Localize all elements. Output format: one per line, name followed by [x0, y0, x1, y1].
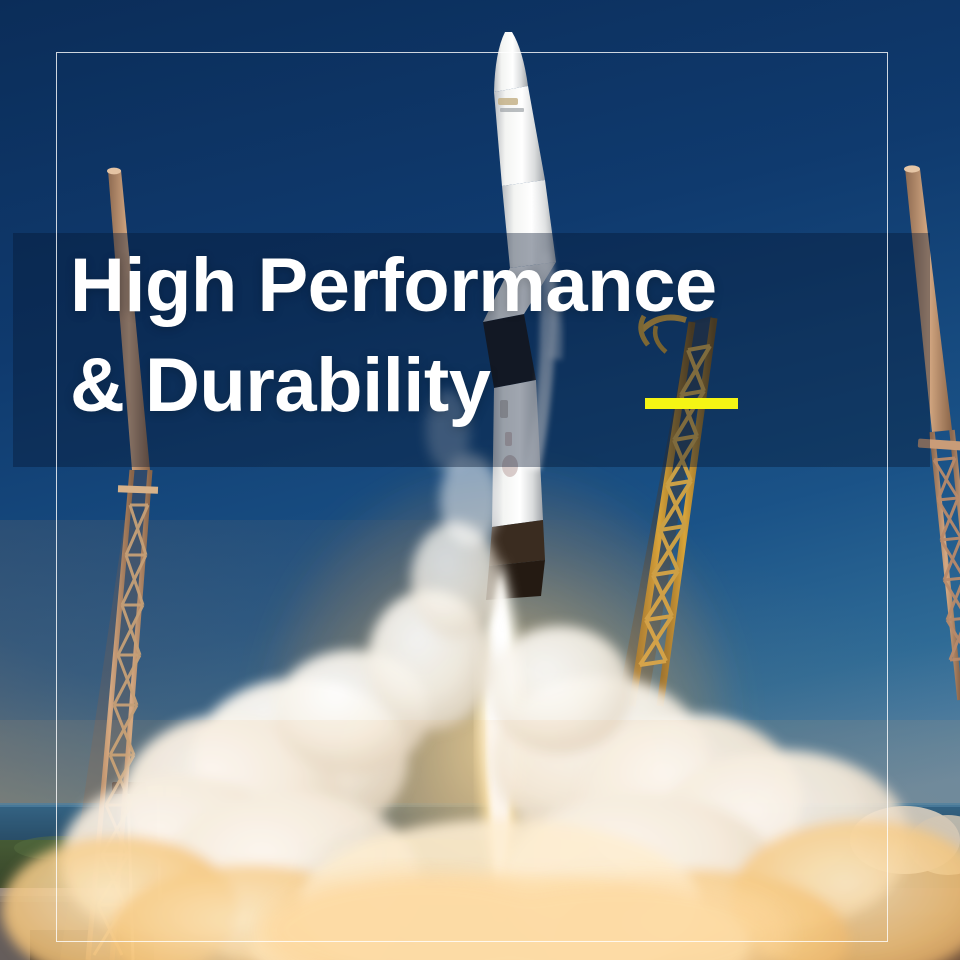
- page-title: High Performance & Durability: [70, 236, 950, 436]
- headline-line-1: High Performance: [70, 236, 950, 336]
- rocket-launch-photo: [0, 0, 960, 960]
- hero-banner: High Performance & Durability: [0, 0, 960, 960]
- headline-line-2: & Durability: [70, 336, 950, 436]
- yellow-accent-dash: [645, 398, 738, 409]
